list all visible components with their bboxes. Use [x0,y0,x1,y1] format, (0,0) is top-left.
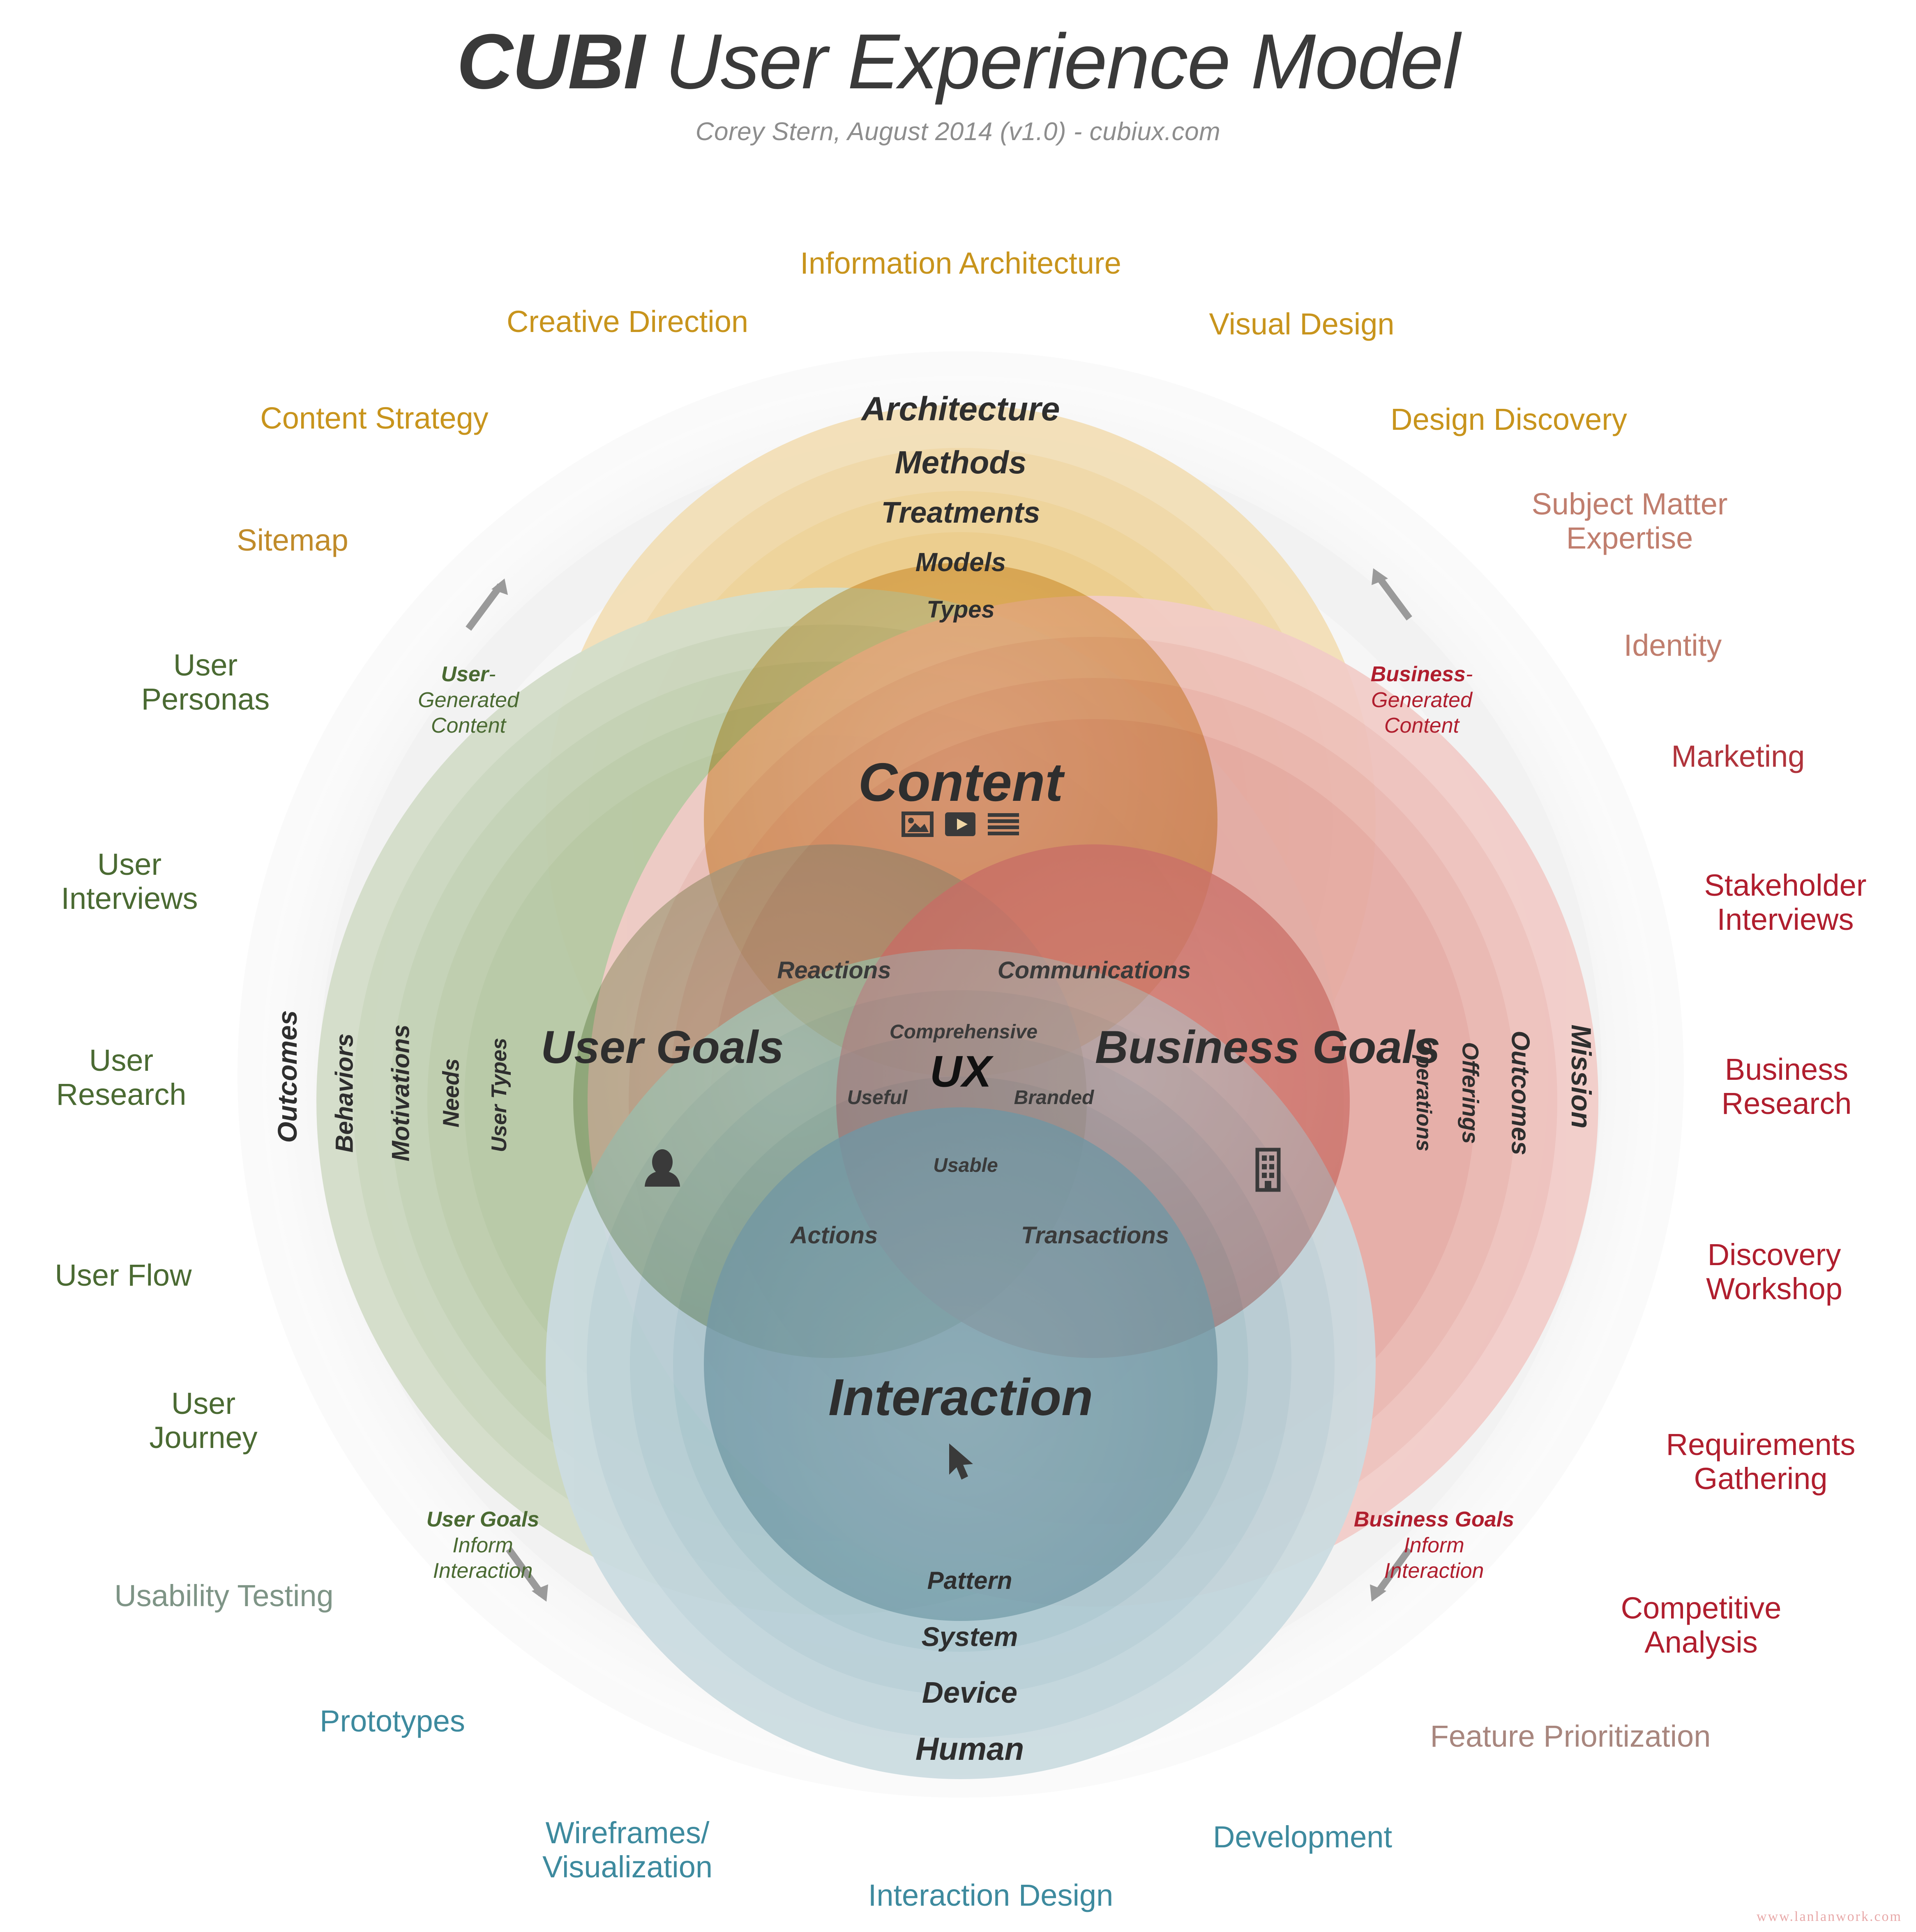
outer-label-creative-direction[interactable]: Creative Direction [507,305,748,339]
outer-label-design-discovery[interactable]: Design Discovery [1390,403,1627,437]
outer-label-interaction-design[interactable]: Interaction Design [868,1879,1113,1913]
note-business-goals-inform-strong: Business Goals [1354,1508,1514,1531]
interaction-layer-human: Human [915,1731,1024,1767]
text-lines-icon [987,812,1020,839]
lens-branded: Branded [1014,1087,1094,1109]
outer-label-wireframes-visualization[interactable]: Wireframes/ Visualization [542,1816,712,1884]
quadrant-label-content: Content [858,752,1063,813]
outer-label-requirements-gathering[interactable]: Requirements Gathering [1666,1428,1856,1496]
lens-useful: Useful [847,1087,908,1109]
content-layer-treatments: Treatments [881,496,1040,530]
user-ring-motivations: Motivations [387,1024,414,1161]
poster-canvas: CUBI User Experience Model Corey Stern, … [0,0,1916,1932]
cursor-icon [943,1440,979,1483]
interaction-layer-device: Device [922,1676,1017,1710]
lens-usable: Usable [933,1155,998,1177]
business-ring-operations: Operations [1412,1039,1436,1152]
outer-label-visual-design[interactable]: Visual Design [1209,307,1394,341]
quadrant-label-business-goals: Business Goals [1095,1023,1440,1072]
interaction-layer-system: System [922,1622,1018,1652]
image-icon [902,812,934,839]
outer-label-feature-prioritization[interactable]: Feature Prioritization [1430,1720,1711,1754]
outer-label-user-research[interactable]: User Research [56,1044,187,1112]
outer-label-business-research[interactable]: Business Research [1722,1053,1852,1121]
outer-label-discovery-workshop[interactable]: Discovery Workshop [1706,1238,1842,1306]
content-icons [902,812,1020,839]
outer-label-stakeholder-interviews[interactable]: Stakeholder Interviews [1704,869,1867,937]
note-user-goals-inform-interaction: User GoalsInform Interaction [427,1481,540,1584]
outer-label-competitive-analysis[interactable]: Competitive Analysis [1594,1591,1809,1660]
content-layer-types: Types [927,597,994,623]
outer-label-development[interactable]: Development [1213,1820,1392,1854]
note-business-generated-strong: Business [1371,662,1466,686]
business-ring-outcomes: Outcomes [1506,1031,1534,1155]
building-icon [1246,1146,1289,1193]
outer-label-user-flow[interactable]: User Flow [55,1259,191,1293]
outer-label-user-personas[interactable]: User Personas [141,648,270,717]
quadrant-label-user-goals: User Goals [541,1023,784,1072]
quadrant-label-interaction: Interaction [828,1368,1093,1426]
outer-label-prototypes[interactable]: Prototypes [320,1704,465,1738]
video-icon [944,812,976,839]
business-ring-mission: Mission [1566,1024,1597,1128]
note-business-goals-inform-interaction: Business GoalsInform Interaction [1354,1481,1514,1584]
note-user-generated-strong: User [441,662,489,686]
outer-label-usability-testing[interactable]: Usability Testing [114,1579,333,1613]
note-business-goals-inform-rest: Inform Interaction [1384,1533,1484,1583]
note-user-goals-inform-strong: User Goals [427,1508,540,1531]
lens-reactions: Reactions [777,957,891,984]
note-user-generated-content: User- Generated Content [418,636,519,739]
content-layer-methods: Methods [895,445,1027,480]
interaction-layer-pattern: Pattern [927,1567,1012,1594]
outer-label-content-strategy[interactable]: Content Strategy [260,401,488,436]
core-label-ux: UX [930,1047,991,1097]
content-layer-architecture: Architecture [861,390,1060,428]
note-business-generated-content: Business- Generated Content [1371,636,1473,739]
business-ring-offerings: Offerings [1457,1042,1483,1144]
outer-label-subject-matter-expertise[interactable]: Subject Matter Expertise [1531,487,1727,556]
outer-label-marketing[interactable]: Marketing [1672,740,1805,774]
user-ring-needs: Needs [438,1058,464,1127]
lens-communications: Communications [998,957,1191,984]
lens-transactions: Transactions [1021,1222,1169,1249]
outer-label-identity[interactable]: Identity [1624,629,1722,663]
lens-actions: Actions [791,1222,878,1249]
outer-label-user-interviews[interactable]: User Interviews [61,848,198,916]
watermark: www.lanlanwork.com [1757,1909,1902,1925]
content-layer-models: Models [915,548,1006,577]
note-user-goals-inform-rest: Inform Interaction [433,1533,533,1583]
user-ring-user-types: User Types [487,1038,511,1152]
outer-label-sitemap[interactable]: Sitemap [237,523,348,558]
outer-label-information-architecture[interactable]: Information Architecture [800,247,1121,281]
lens-comprehensive: Comprehensive [890,1021,1038,1043]
outer-label-user-journey[interactable]: User Journey [149,1387,257,1455]
person-icon [640,1146,685,1192]
user-ring-outcomes: Outcomes [272,1010,303,1143]
user-ring-behaviors: Behaviors [330,1033,358,1153]
